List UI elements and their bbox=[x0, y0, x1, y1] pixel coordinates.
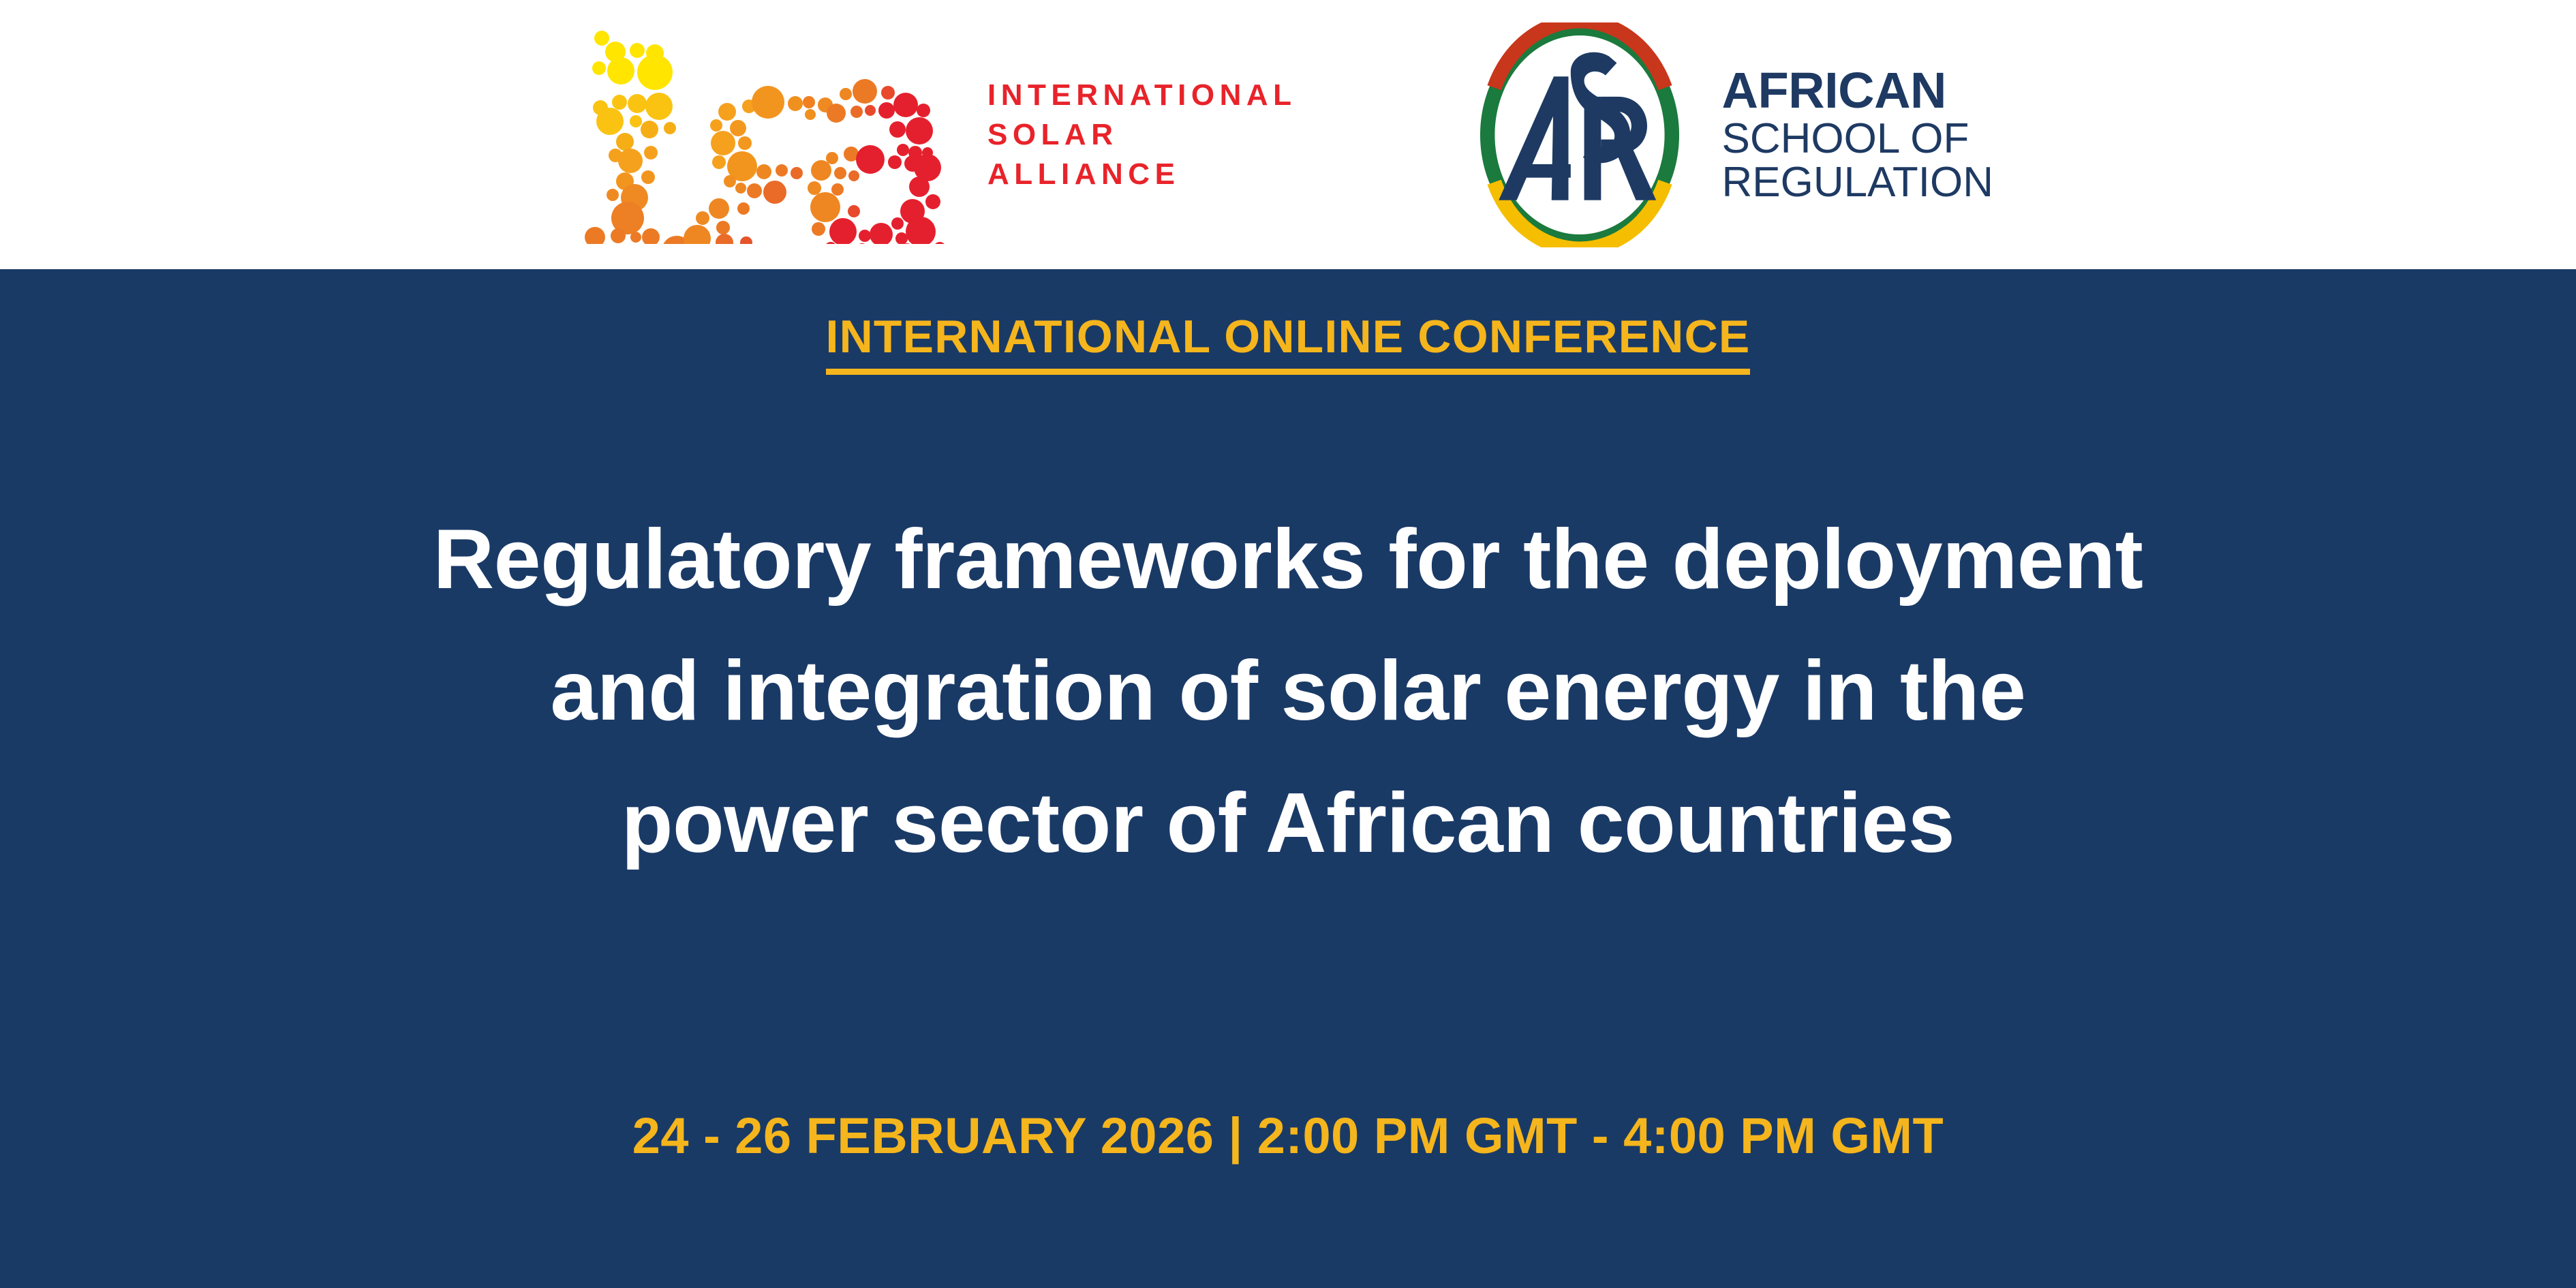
isa-logo: INTERNATIONAL SOLAR ALLIANCE bbox=[583, 26, 1297, 244]
asr-word-african: AFRICAN bbox=[1722, 65, 1993, 117]
asr-monogram-ring-icon bbox=[1467, 22, 1692, 247]
isa-dotted-wordmark-icon bbox=[583, 26, 964, 244]
asr-logo: AFRICAN SCHOOL OF REGULATION bbox=[1467, 22, 1993, 247]
isa-word-international: INTERNATIONAL bbox=[987, 80, 1297, 110]
kicker-row: INTERNATIONAL ONLINE CONFERENCE bbox=[0, 313, 2576, 375]
asr-word-regulation: REGULATION bbox=[1722, 161, 1993, 204]
conference-date-time: 24 - 26 FEBRUARY 2026 | 2:00 PM GMT - 4:… bbox=[632, 1111, 1944, 1161]
isa-wordmark-text: INTERNATIONAL SOLAR ALLIANCE bbox=[987, 80, 1297, 189]
title-line-2: and integration of solar energy in the bbox=[550, 626, 2025, 757]
date-row: 24 - 26 FEBRUARY 2026 | 2:00 PM GMT - 4:… bbox=[0, 1111, 2576, 1161]
asr-wordmark-text: AFRICAN SCHOOL OF REGULATION bbox=[1722, 65, 1993, 205]
conference-banner: INTERNATIONAL SOLAR ALLIANCE bbox=[0, 0, 2576, 1288]
conference-kicker: INTERNATIONAL ONLINE CONFERENCE bbox=[826, 313, 1751, 375]
title-line-3: power sector of African countries bbox=[622, 758, 1954, 889]
conference-title: Regulatory frameworks for the deployment… bbox=[0, 494, 2576, 889]
isa-word-alliance: ALLIANCE bbox=[987, 159, 1297, 189]
logo-row: INTERNATIONAL SOLAR ALLIANCE bbox=[0, 0, 2576, 269]
logo-header-band: INTERNATIONAL SOLAR ALLIANCE bbox=[0, 0, 2576, 269]
isa-word-solar: SOLAR bbox=[987, 120, 1297, 150]
asr-word-school-of: SCHOOL OF bbox=[1722, 117, 1993, 161]
title-line-1: Regulatory frameworks for the deployment bbox=[433, 494, 2143, 626]
navy-content-band: INTERNATIONAL ONLINE CONFERENCE Regulato… bbox=[0, 269, 2576, 1288]
